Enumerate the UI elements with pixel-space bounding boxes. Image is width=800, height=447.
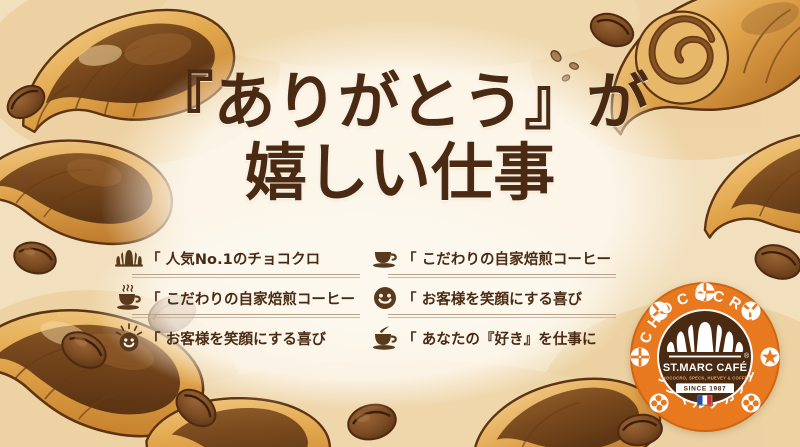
feature-list: 「 人気No.1のチョコクロ 「 こだわりの自家焙煎コーヒー bbox=[112, 238, 612, 358]
french-flag-icon bbox=[698, 395, 713, 405]
list-item: 「 お客様を笑顔にする喜び bbox=[112, 318, 360, 358]
smiley-face-icon bbox=[368, 282, 402, 314]
list-item: 「 こだわりの自家焙煎コーヒー bbox=[112, 278, 360, 318]
steam-coffee-cup-icon bbox=[368, 322, 402, 354]
headline-line-2: 嬉しい仕事 bbox=[0, 143, 800, 204]
logo-brand-name: ST.MARC CAFÉ bbox=[663, 361, 747, 374]
list-item-label: 「 お客様を笑顔にする喜び bbox=[146, 328, 326, 349]
logo-tagline: CHOCOCRO, SPECK, HUEVEY & COFFEE bbox=[659, 376, 750, 381]
list-item: 「 人気No.1のチョコクロ bbox=[112, 238, 360, 278]
logo-since-text: SINCE 1987 bbox=[684, 385, 727, 392]
st-marc-cafe-logo: CHOCOCRO サンマルクカフェ ® ST.MARC C bbox=[630, 282, 780, 432]
list-item-label: 「 こだわりの自家焙煎コーヒー bbox=[402, 248, 611, 269]
smiling-sun-icon bbox=[112, 322, 146, 354]
steaming-coffee-cup-icon bbox=[112, 282, 146, 314]
list-item: 「 お客様を笑顔にする喜び bbox=[368, 278, 616, 318]
list-item: 「 あなたの『好き』を仕事に bbox=[368, 318, 616, 358]
list-item-label: 「 人気No.1のチョコクロ bbox=[146, 248, 320, 269]
headline-line-1: 『ありがとう』が bbox=[0, 72, 800, 133]
list-item: 「 こだわりの自家焙煎コーヒー bbox=[368, 238, 616, 278]
registered-mark: ® bbox=[744, 352, 750, 360]
list-item-label: 「 お客様を笑顔にする喜び bbox=[402, 288, 582, 309]
coffee-cup-icon bbox=[368, 242, 402, 274]
croissant-icon bbox=[112, 242, 146, 274]
page-title: 『ありがとう』が 嬉しい仕事 bbox=[0, 72, 800, 204]
list-item-label: 「 こだわりの自家焙煎コーヒー bbox=[146, 288, 355, 309]
list-item-label: 「 あなたの『好き』を仕事に bbox=[402, 328, 597, 349]
poster-canvas: 『ありがとう』が 嬉しい仕事 「 人気No.1のチョコクロ bbox=[0, 0, 800, 447]
